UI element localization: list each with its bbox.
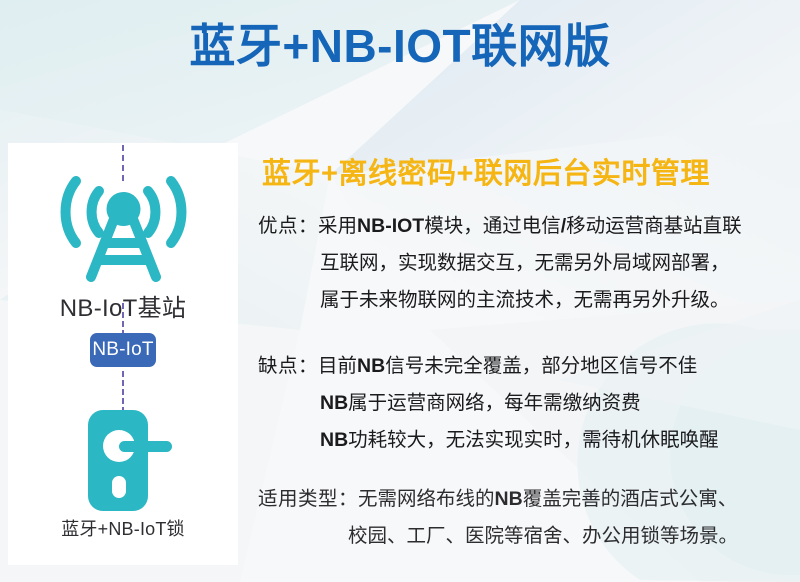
lock-label: 蓝牙+NB-IoT锁 xyxy=(8,515,238,541)
title-text-latin: +NB-IOT xyxy=(282,20,471,72)
disadvantages-block: 缺点：目前NB信号未完全覆盖，部分地区信号不佳 NB属于运营商网络，每年需缴纳资… xyxy=(258,348,798,459)
scenarios-line-1: 适用类型：无需网络布线的NB覆盖完善的酒店式公寓、 xyxy=(258,481,798,518)
advantages-line-2: 互联网，实现数据交互，无需另外局域网部署， xyxy=(258,245,798,282)
disadvantages-line1-b: 信号未完全覆盖，部分地区信号不佳 xyxy=(385,356,697,377)
scenarios-line1-a: 无需网络布线的 xyxy=(358,489,495,510)
disadvantages-line-3: NB功耗较大，无法实现实时，需待机休眠唤醒 xyxy=(258,422,798,459)
disadvantages-label: 缺点： xyxy=(258,356,318,377)
disadvantages-line3-b: 功耗较大，无法实现实时，需待机休眠唤醒 xyxy=(348,430,719,451)
advantages-line-3: 属于未来物联网的主流技术，无需再另外升级。 xyxy=(258,282,798,319)
subtitle-cn-b: 离线密码 xyxy=(338,158,456,190)
illustration-panel: NB-IoT基站 NB-IoT 蓝牙+NB-IoT锁 xyxy=(8,143,238,565)
section-subtitle: 蓝牙+离线密码+联网后台实时管理 xyxy=(262,150,782,192)
disadvantages-line2-latin: NB xyxy=(320,392,348,414)
disadvantages-line-2: NB属于运营商网络，每年需缴纳资费 xyxy=(258,385,798,422)
advantages-label: 优点： xyxy=(258,216,318,237)
advantages-line-1: 优点：采用NB-IOT模块，通过电信/移动运营商基站直联 xyxy=(258,208,798,245)
tower-label: NB-IoT基站 xyxy=(8,288,238,323)
door-lock-icon xyxy=(86,408,174,513)
scenarios-label: 适用类型： xyxy=(258,489,358,510)
subtitle-plus-a: + xyxy=(321,158,338,190)
disadvantages-line-1: 缺点：目前NB信号未完全覆盖，部分地区信号不佳 xyxy=(258,348,798,385)
cell-tower-icon xyxy=(51,157,196,287)
title-text-cn-a: 蓝牙 xyxy=(189,21,282,72)
disadvantages-line2-b: 属于运营商网络，每年需缴纳资费 xyxy=(348,393,641,414)
disadvantages-line3-latin: NB xyxy=(320,429,348,451)
subtitle-cn-a: 蓝牙 xyxy=(262,158,321,190)
scenarios-block: 适用类型：无需网络布线的NB覆盖完善的酒店式公寓、 校园、工厂、医院等宿舍、办公… xyxy=(258,481,798,555)
advantages-line1-latin: NB-IOT xyxy=(357,215,424,237)
disadvantages-line1-a: 目前 xyxy=(318,356,357,377)
page-title: 蓝牙+NB-IOT联网版 xyxy=(0,18,800,76)
subtitle-plus-b: + xyxy=(456,158,473,190)
scenarios-line1-b: 覆盖完善的酒店式公寓、 xyxy=(523,489,738,510)
nb-iot-badge: NB-IoT xyxy=(90,333,156,367)
advantages-line1-c: 移动运营商基站直联 xyxy=(566,216,742,237)
advantages-line1-a: 采用 xyxy=(318,216,357,237)
slide-canvas: 蓝牙+NB-IOT联网版 xyxy=(0,0,800,582)
disadvantages-line1-latin: NB xyxy=(357,355,385,377)
advantages-line1-b: 模块，通过电信 xyxy=(424,216,561,237)
scenarios-line-2: 校园、工厂、医院等宿舍、办公用锁等场景。 xyxy=(258,518,798,555)
scenarios-line1-latin: NB xyxy=(495,488,523,510)
subtitle-cn-c: 联网后台实时管理 xyxy=(474,158,710,190)
title-text-cn-b: 联网版 xyxy=(471,21,611,72)
advantages-block: 优点：采用NB-IOT模块，通过电信/移动运营商基站直联 互联网，实现数据交互，… xyxy=(258,208,798,319)
dashed-connector-bottom xyxy=(122,371,124,413)
